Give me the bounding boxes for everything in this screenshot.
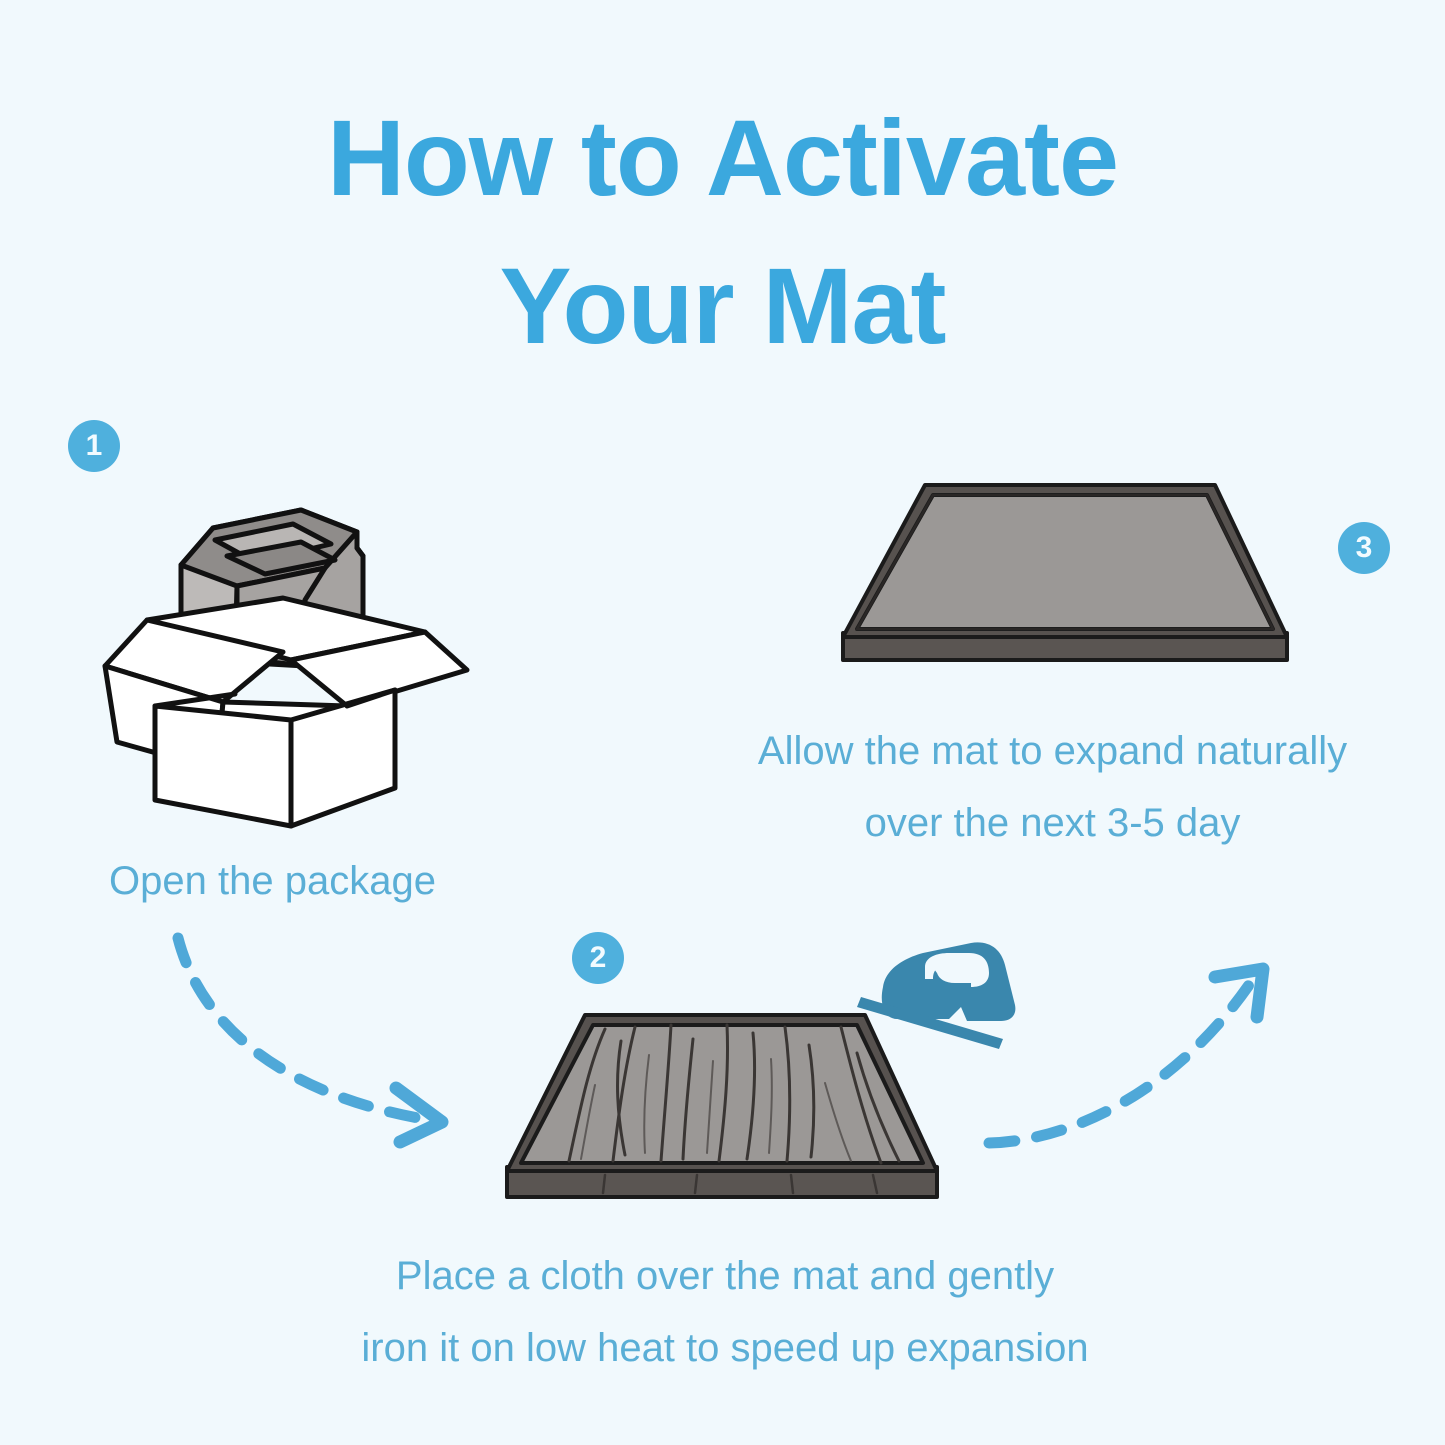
step-2-caption: Place a cloth over the mat and gently ir… (230, 1240, 1220, 1384)
clothes-iron-icon (845, 935, 1040, 1055)
step-3-caption: Allow the mat to expand naturally over t… (660, 715, 1445, 859)
step-3-caption-line-2: over the next 3-5 day (660, 787, 1445, 859)
arrow-step1-to-step2-icon (160, 920, 500, 1150)
step-badge-2: 2 (572, 932, 624, 984)
infographic-canvas: How to Activate Your Mat 1 (0, 0, 1445, 1445)
step-2-caption-line-1: Place a cloth over the mat and gently (230, 1240, 1220, 1312)
step-2-caption-line-2: iron it on low heat to speed up expansio… (230, 1312, 1220, 1384)
expanded-mat-icon (825, 465, 1315, 680)
open-box-icon (95, 470, 475, 830)
title-line-1: How to Activate (0, 84, 1445, 232)
arrow-step2-to-step3-icon (975, 955, 1295, 1165)
page-title: How to Activate Your Mat (0, 84, 1445, 380)
title-line-2: Your Mat (0, 232, 1445, 380)
step-badge-1: 1 (68, 420, 120, 472)
step-badge-3: 3 (1338, 522, 1390, 574)
step-3-caption-line-1: Allow the mat to expand naturally (660, 715, 1445, 787)
step-1-caption: Open the package (0, 845, 545, 917)
wrinkled-mat-icon (485, 995, 965, 1220)
